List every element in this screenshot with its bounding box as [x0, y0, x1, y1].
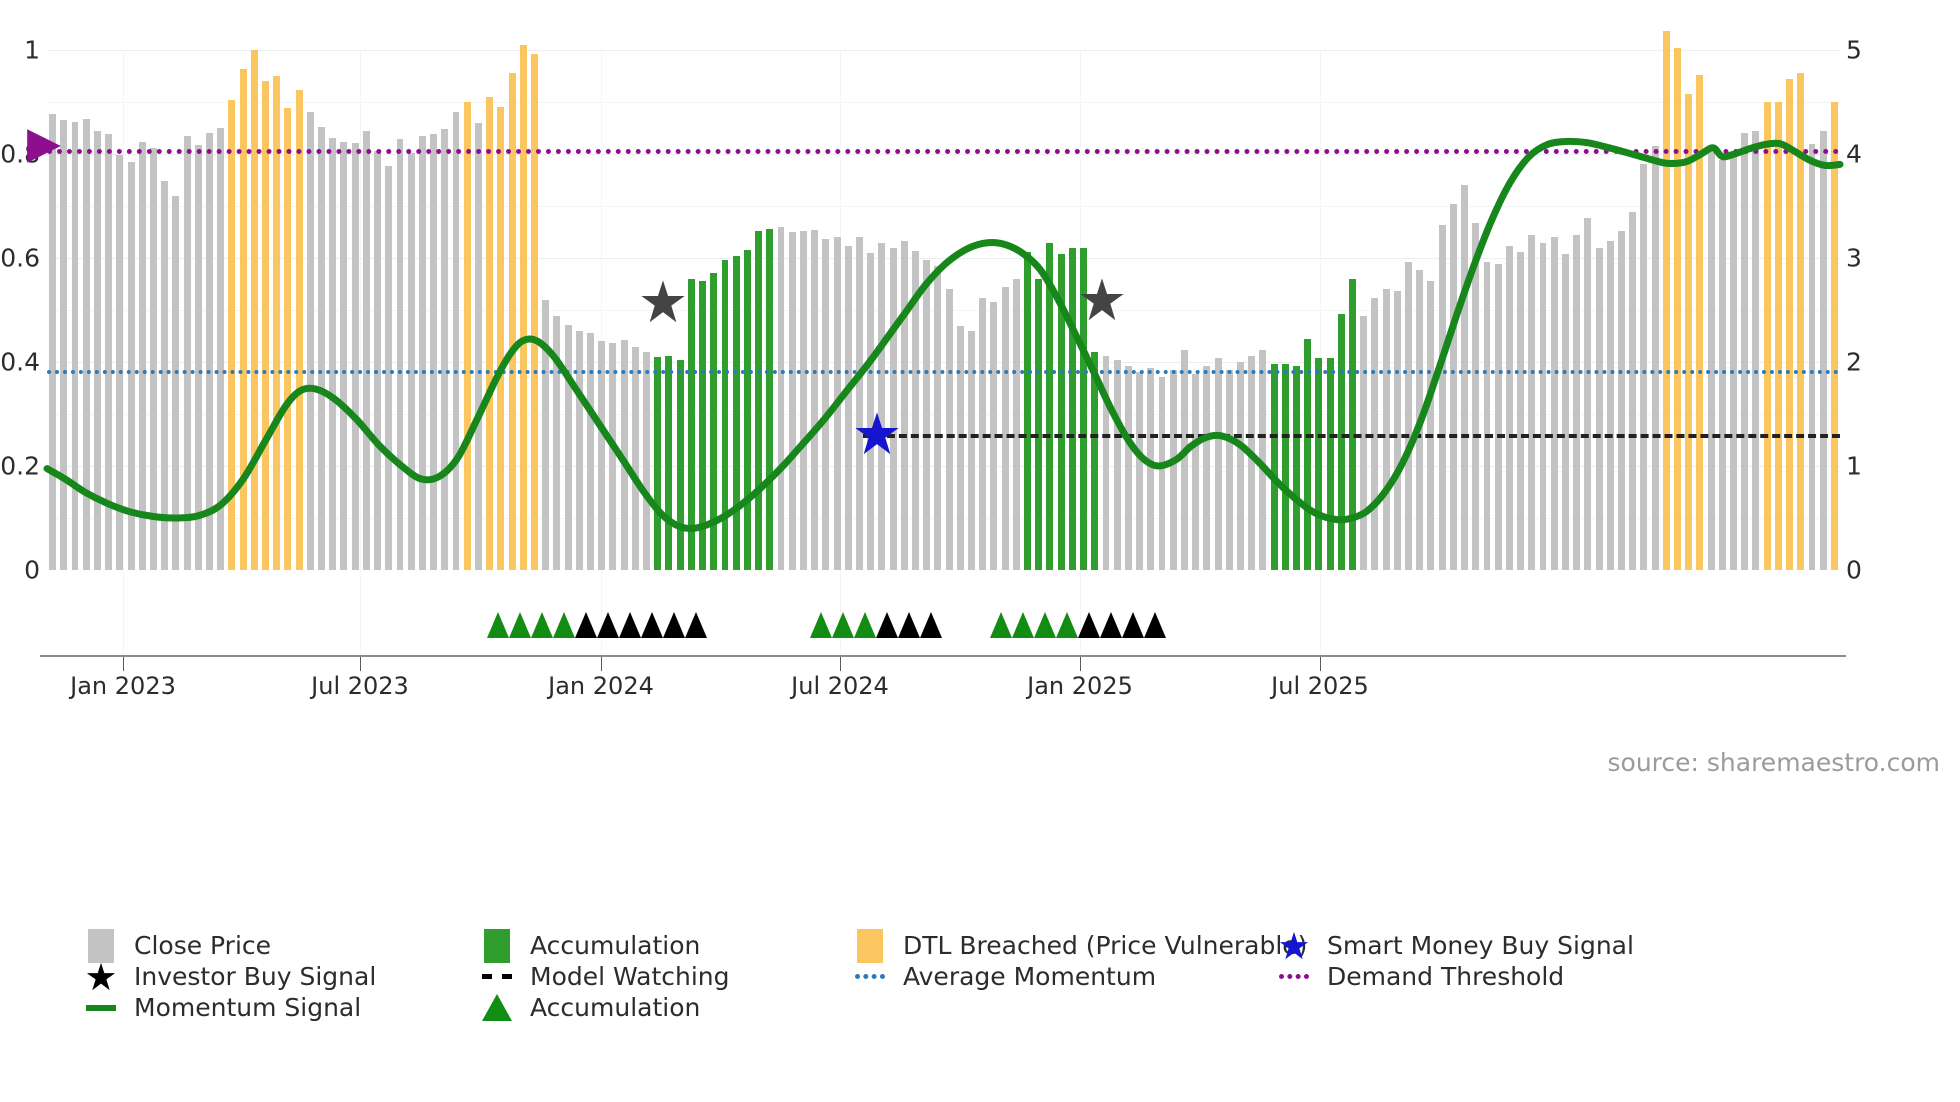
- chart-root: 10.80.60.40.20 543210 Jan 2023Jul 2023Ja…: [0, 0, 1960, 1102]
- demand-threshold-arrow: [24, 126, 64, 170]
- accumulation-triangle-icon: [509, 612, 531, 638]
- model-watching-triangle-icon: [619, 612, 641, 638]
- dtl-breached-icon: [855, 929, 885, 963]
- accumulation-triangle-icon: [810, 612, 832, 638]
- source-note: source: sharemaestro.com: [1608, 748, 1941, 777]
- plot-area: [47, 50, 1840, 570]
- legend-label: Smart Money Buy Signal: [1327, 931, 1634, 960]
- accumulation-triangle-group: [810, 608, 942, 638]
- accumulation-triangle-icon: [487, 612, 509, 638]
- legend-item-dtl-breached[interactable]: DTL Breached (Price Vulnerable): [855, 930, 1307, 961]
- x-axis-tick: [1320, 657, 1321, 671]
- legend-item-smart-money-buy-signal[interactable]: Smart Money Buy Signal: [1279, 930, 1634, 961]
- investor-buy-signal-star: [1079, 277, 1125, 327]
- momentum-signal-path: [47, 141, 1840, 528]
- accumulation-triangle-icon: [482, 991, 512, 1025]
- x-axis-tick-label: Jan 2025: [1027, 672, 1133, 700]
- x-axis-tick: [601, 657, 602, 671]
- x-axis-tick: [1080, 657, 1081, 671]
- legend-label: Accumulation: [530, 993, 700, 1022]
- legend-label: Demand Threshold: [1327, 962, 1564, 991]
- legend-item-average-momentum[interactable]: Average Momentum: [855, 961, 1156, 992]
- accumulation-triangle-icon: [1012, 612, 1034, 638]
- x-axis-tick-label: Jul 2023: [311, 672, 409, 700]
- model-watching-triangle-icon: [876, 612, 898, 638]
- legend-row: Close PriceAccumulationDTL Breached (Pri…: [86, 930, 1926, 961]
- legend-item-investor-buy-signal[interactable]: Investor Buy Signal: [86, 961, 376, 992]
- right-axis-tick-label: 5: [1846, 36, 1862, 65]
- model-watching-triangle-icon: [597, 612, 619, 638]
- legend-label: Accumulation: [530, 931, 700, 960]
- legend-row: Momentum SignalAccumulation: [86, 992, 1926, 1023]
- legend-item-demand-threshold[interactable]: Demand Threshold: [1279, 961, 1564, 992]
- accumulation-triangle-icon: [854, 612, 876, 638]
- accumulation-triangle-group: [487, 608, 707, 638]
- average-momentum-icon: [855, 960, 885, 994]
- model-watching-triangle-icon: [575, 612, 597, 638]
- accumulation-triangle-icon: [1056, 612, 1078, 638]
- legend-item-accumulation-triangle[interactable]: Accumulation: [482, 992, 700, 1023]
- legend-item-momentum-signal[interactable]: Momentum Signal: [86, 992, 361, 1023]
- x-axis-tick-label: Jul 2024: [791, 672, 889, 700]
- legend-item-model-watching[interactable]: Model Watching: [482, 961, 730, 992]
- x-axis-tick-label: Jan 2023: [70, 672, 176, 700]
- legend-row: Investor Buy SignalModel WatchingAverage…: [86, 961, 1926, 992]
- investor-buy-signal-icon: [86, 960, 116, 994]
- x-axis-tick: [360, 657, 361, 671]
- legend-label: Investor Buy Signal: [134, 962, 376, 991]
- accumulation-triangle-icon: [990, 612, 1012, 638]
- left-axis-tick-label: 0: [24, 556, 40, 585]
- smart-money-buy-signal-star: [854, 411, 900, 461]
- model-watching-triangle-icon: [1100, 612, 1122, 638]
- x-axis-tick-label: Jan 2024: [548, 672, 654, 700]
- right-axis-tick-label: 2: [1846, 348, 1862, 377]
- model-watching-triangle-icon: [685, 612, 707, 638]
- model-watching-icon: [482, 960, 512, 994]
- legend-item-close-price[interactable]: Close Price: [86, 930, 271, 961]
- accumulation-triangle-icon: [553, 612, 575, 638]
- legend-label: DTL Breached (Price Vulnerable): [903, 931, 1307, 960]
- legend-label: Close Price: [134, 931, 271, 960]
- accumulation-triangle-icon: [1034, 612, 1056, 638]
- x-axis-tick-label: Jul 2025: [1271, 672, 1369, 700]
- momentum-signal-line: [47, 50, 1840, 570]
- accumulation-triangle-icon: [832, 612, 854, 638]
- momentum-signal-icon: [86, 991, 116, 1025]
- close-price-icon: [86, 929, 116, 963]
- left-axis-tick-label: 1: [24, 36, 40, 65]
- investor-buy-signal-star: [640, 279, 686, 329]
- left-y-axis: 10.80.60.40.20: [0, 40, 44, 580]
- right-axis-tick-label: 4: [1846, 140, 1862, 169]
- left-axis-tick-label: 0.4: [0, 348, 40, 377]
- model-watching-triangle-icon: [1078, 612, 1100, 638]
- model-watching-triangle-icon: [1144, 612, 1166, 638]
- chart-legend: Close PriceAccumulationDTL Breached (Pri…: [86, 930, 1926, 1023]
- accumulation-bar-icon: [482, 929, 512, 963]
- legend-item-accumulation-bar[interactable]: Accumulation: [482, 930, 700, 961]
- smart-money-buy-signal-icon: [1279, 929, 1309, 963]
- legend-label: Model Watching: [530, 962, 730, 991]
- model-watching-triangle-icon: [898, 612, 920, 638]
- model-watching-triangle-icon: [1122, 612, 1144, 638]
- legend-label: Average Momentum: [903, 962, 1156, 991]
- left-axis-tick-label: 0.6: [0, 244, 40, 273]
- x-axis-tick: [840, 657, 841, 671]
- left-axis-tick-label: 0.2: [0, 452, 40, 481]
- legend-label: Momentum Signal: [134, 993, 361, 1022]
- right-axis-tick-label: 3: [1846, 244, 1862, 273]
- right-axis-tick-label: 1: [1846, 452, 1862, 481]
- accumulation-triangle-icon: [531, 612, 553, 638]
- x-axis-line: [40, 655, 1846, 657]
- accumulation-triangle-row: [47, 598, 1840, 638]
- model-watching-triangle-icon: [641, 612, 663, 638]
- model-watching-triangle-icon: [663, 612, 685, 638]
- accumulation-triangle-group: [990, 608, 1166, 638]
- x-axis-tick: [123, 657, 124, 671]
- model-watching-triangle-icon: [920, 612, 942, 638]
- right-y-axis: 543210: [1840, 40, 1900, 580]
- right-axis-tick-label: 0: [1846, 556, 1862, 585]
- demand-threshold-icon: [1279, 960, 1309, 994]
